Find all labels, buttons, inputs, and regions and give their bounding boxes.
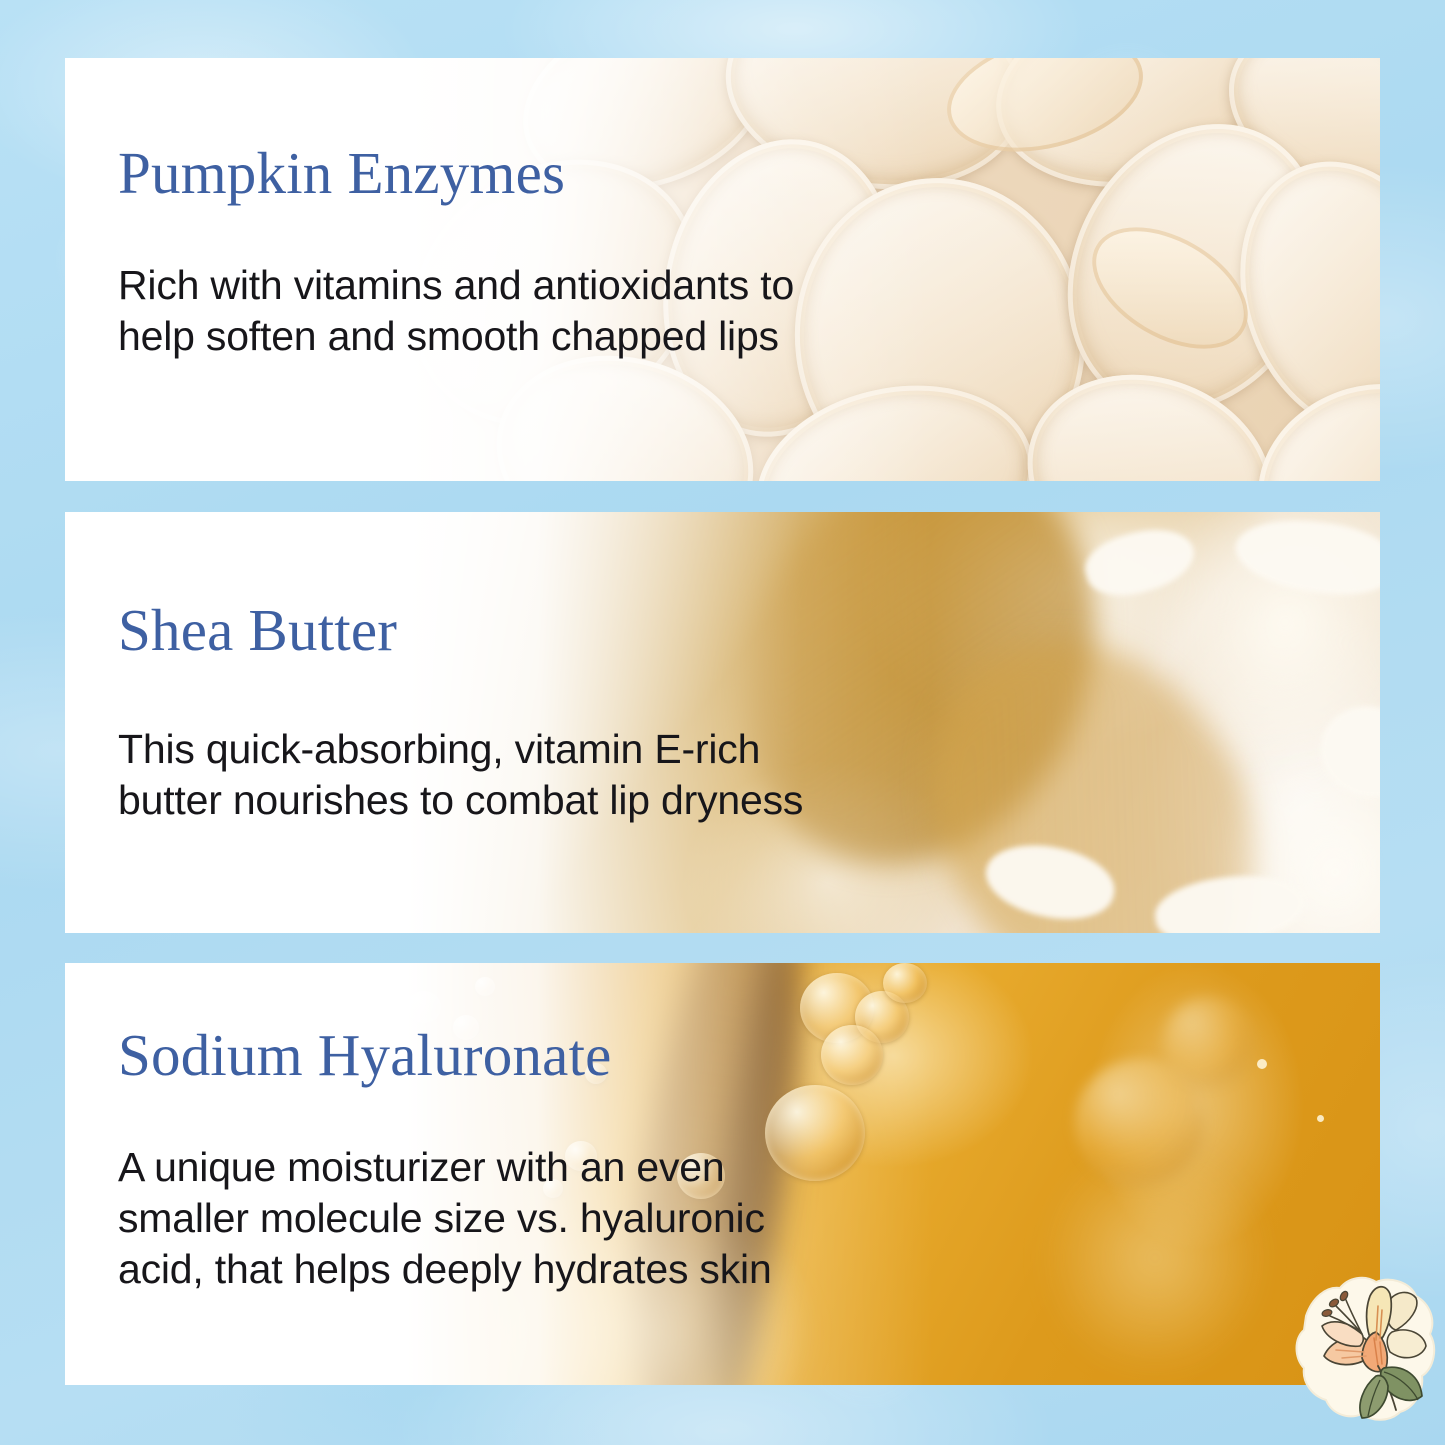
panel-heading-shea-butter: Shea Butter: [118, 600, 1340, 662]
body-line: A unique moisturizer with an even: [118, 1142, 1340, 1193]
body-line: Rich with vitamins and antioxidants to: [118, 260, 1340, 311]
body-line: smaller molecule size vs. hyaluronic: [118, 1193, 1340, 1244]
panel-heading-sodium-hyaluronate: Sodium Hyaluronate: [118, 1025, 1340, 1087]
panel-body-pumpkin-enzymes: Rich with vitamins and antioxidants to h…: [118, 260, 1340, 362]
body-line: acid, that helps deeply hydrates skin: [118, 1244, 1340, 1295]
body-line: This quick-absorbing, vitamin E-rich: [118, 724, 1340, 775]
lily-flower-icon: [1292, 1272, 1442, 1424]
panel-text-block: Shea Butter This quick-absorbing, vitami…: [118, 600, 1340, 826]
panel-body-sodium-hyaluronate: A unique moisturizer with an even smalle…: [118, 1142, 1340, 1295]
ingredient-benefits-infographic: Pumpkin Enzymes Rich with vitamins and a…: [0, 0, 1445, 1445]
panel-text-block: Sodium Hyaluronate A unique moisturizer …: [118, 1025, 1340, 1295]
ingredient-panel-pumpkin-enzymes: Pumpkin Enzymes Rich with vitamins and a…: [65, 58, 1380, 481]
panel-heading-pumpkin-enzymes: Pumpkin Enzymes: [118, 143, 1340, 205]
ingredient-panel-shea-butter: Shea Butter This quick-absorbing, vitami…: [65, 512, 1380, 933]
body-line: butter nourishes to combat lip dryness: [118, 775, 1340, 826]
panel-text-block: Pumpkin Enzymes Rich with vitamins and a…: [118, 143, 1340, 362]
panel-body-shea-butter: This quick-absorbing, vitamin E-rich but…: [118, 724, 1340, 826]
body-line: help soften and smooth chapped lips: [118, 311, 1340, 362]
ingredient-panel-sodium-hyaluronate: Sodium Hyaluronate A unique moisturizer …: [65, 963, 1380, 1385]
